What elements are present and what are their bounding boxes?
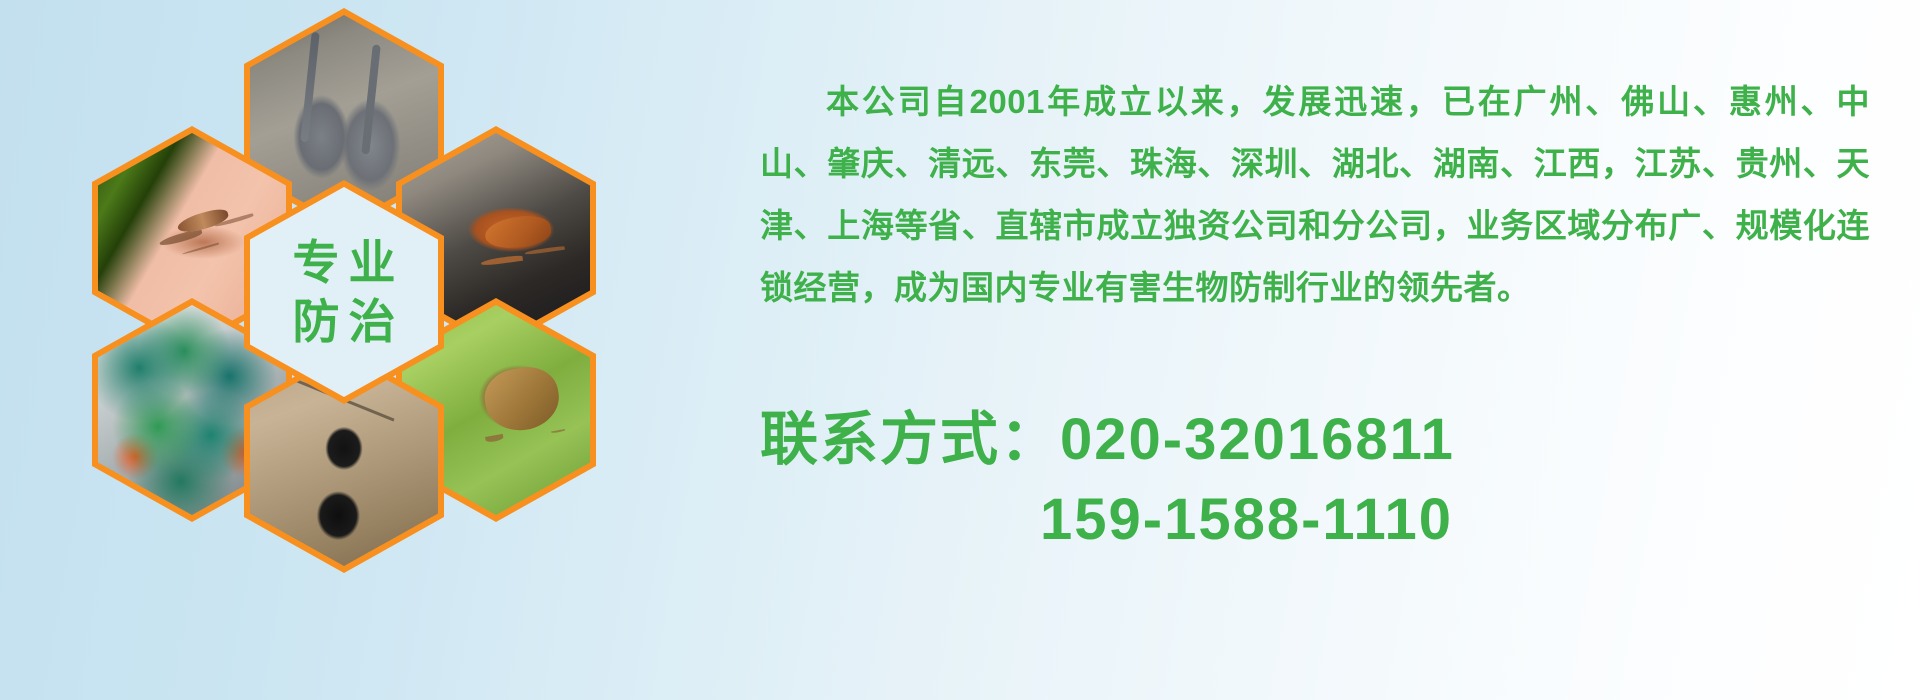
hex-badge-inner: 专业 防治: [250, 187, 438, 397]
contact-block: 联系方式：020-32016811 159-1588-1110: [760, 400, 1870, 560]
hexagon-photo-cluster: 专业 防治: [92, 8, 592, 573]
hex-badge-line-2: 防治: [284, 294, 405, 349]
contact-secondary-phone[interactable]: 159-1588-1110: [760, 480, 1870, 560]
hex-badge-line-1: 专业: [284, 235, 405, 290]
banner-text-column: 本公司自2001年成立以来，发展迅速，已在广州、佛山、惠州、中山、肇庆、清远、东…: [740, 0, 1900, 700]
contact-primary-phone[interactable]: 联系方式：020-32016811: [760, 400, 1870, 480]
company-about-paragraph: 本公司自2001年成立以来，发展迅速，已在广州、佛山、惠州、中山、肇庆、清远、东…: [760, 71, 1870, 319]
promo-banner: 专业 防治 本公司自2001年成立以来，发展迅速，已在广州、佛山、惠州、中山、肇…: [0, 0, 1920, 700]
